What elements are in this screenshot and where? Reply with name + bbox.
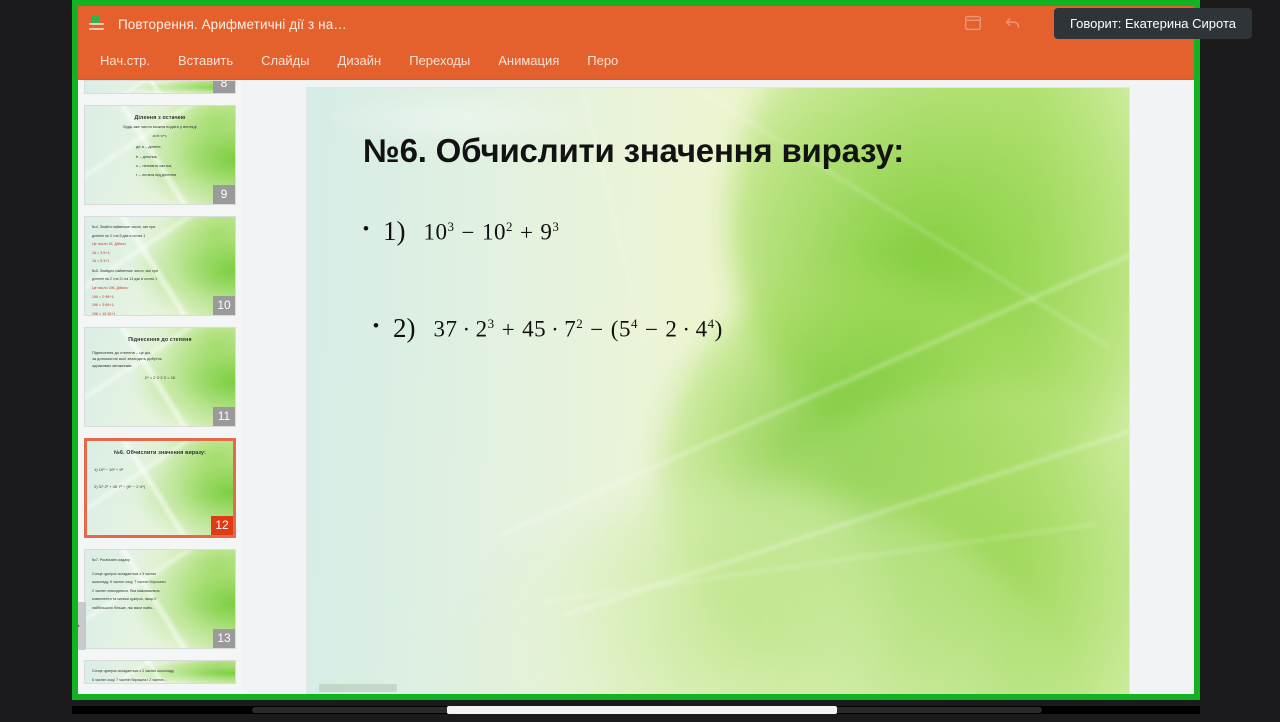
- current-slide[interactable]: №6. Обчислити значення виразу: • 1) 103−…: [306, 87, 1130, 700]
- thumb-line: Це число 196. Дійсно:: [92, 286, 228, 292]
- thumb-line: №4. Знайти найменше число, яке при: [92, 225, 228, 231]
- slide-number-badge: 13: [213, 629, 235, 648]
- thumb-content: Сонце цукерок складається з 3 частин шок…: [85, 661, 235, 683]
- menu-item-animation[interactable]: Анимация: [484, 49, 573, 72]
- thumb-line: Сонце цукерок складається з 3 частин: [92, 572, 228, 578]
- menu-bar: Нач.стр. Вставить Слайды Дизайн Переходы…: [78, 42, 1194, 80]
- list-menu-icon[interactable]: [86, 13, 108, 35]
- thumb-line: c – неповна частка,: [136, 163, 228, 169]
- slide-number-badge: 10: [213, 296, 235, 315]
- menu-item-transitions[interactable]: Переходы: [395, 49, 484, 72]
- thumb-line: найбільшого більше, ніж маси найм...: [92, 606, 228, 612]
- slide-watermark: [319, 684, 397, 692]
- slide-thumbnail[interactable]: Ділення з остачею Будь-яке число можна п…: [84, 105, 236, 205]
- menu-item-design[interactable]: Дизайн: [324, 49, 396, 72]
- undo-icon[interactable]: [1002, 12, 1024, 34]
- slide-number-badge: 9: [213, 185, 235, 204]
- thumb-line: 2) 37·2³ + 45·7² − (5⁴ − 2·4⁴): [94, 484, 226, 490]
- chevron-right-icon: ›: [78, 620, 80, 632]
- screen-root: Повторення. Арифметичні дії з на…: [0, 0, 1280, 722]
- thumb-title: Піднесення до степеня: [92, 337, 228, 343]
- thumb-line: 2 частин знаходяться. Яка максимальна: [92, 589, 228, 595]
- screen-share-frame: Повторення. Арифметичні дії з на…: [72, 0, 1200, 700]
- present-icon[interactable]: [962, 12, 984, 34]
- thumb-title: №6. Обчислити значення виразу:: [94, 450, 226, 456]
- slide-text-body: №6. Обчислити значення виразу: • 1) 103−…: [307, 88, 1129, 700]
- thumb-line: Це число 16. Дійсно:: [92, 242, 228, 248]
- slide-number-badge: 12: [211, 516, 233, 535]
- slide-thumbnail[interactable]: 8: [84, 80, 236, 94]
- thumb-line: однакових множників.: [92, 363, 228, 369]
- menu-item-pen[interactable]: Перо: [573, 49, 632, 72]
- thumbnail-panel-collapse-handle[interactable]: ›: [78, 602, 86, 650]
- thumb-line: №5. Знайдіть найменше число, яке при: [92, 269, 228, 275]
- title-bar: Повторення. Арифметичні дії з на…: [78, 6, 1194, 42]
- slide-thumbnail[interactable]: №4. Знайти найменше число, яке при ділен…: [84, 216, 236, 316]
- item-number: 2): [393, 313, 416, 344]
- thumb-line: 6 частин соку, 7 частин борошна і 2 част…: [92, 678, 228, 684]
- item-number: 1): [383, 216, 406, 247]
- thumb-line: компонента та скільки цукерок, якщо її: [92, 597, 228, 603]
- formula-expression: 103−102+93: [423, 219, 559, 246]
- thumb-line: діленні на 2 і на 3 і на 13 дає в остачі…: [92, 277, 228, 283]
- thumb-line: 2⁴ = 2·2·2·2 = 16: [92, 375, 228, 381]
- menu-item-home[interactable]: Нач.стр.: [86, 49, 164, 72]
- thumb-line: 16 = 5·3+1: [92, 259, 228, 265]
- slide-bullet-item: • 2) 37·23+45·72−(54−2·44): [363, 313, 1089, 344]
- slide-bullet-item: • 1) 103−102+93: [363, 216, 1089, 247]
- formula-expression: 37·23+45·72−(54−2·44): [433, 316, 722, 343]
- thumb-line: a=b·c+r,: [92, 133, 228, 139]
- thumb-line: де a – ділене,: [136, 144, 228, 150]
- slide-number-badge: 11: [213, 407, 235, 426]
- thumb-line: r – остача від ділення: [136, 172, 228, 178]
- scrollbar-thumb[interactable]: [447, 706, 837, 714]
- slide-thumbnail[interactable]: Піднесення до степеня Піднесення до степ…: [84, 327, 236, 427]
- thumb-line: Сонце цукерок складається з 3 частин шок…: [92, 669, 228, 675]
- work-area: 8 Ділення з остачею Будь-яке число можна…: [78, 80, 1194, 694]
- active-speaker-label: Говорит: Екатерина Сирота: [1054, 8, 1252, 39]
- thumb-line: b – дільник,: [136, 154, 228, 160]
- menu-item-slides[interactable]: Слайды: [247, 49, 323, 72]
- thumb-line: 1) 10³ − 10² + 9³: [94, 467, 226, 473]
- thumb-title: №7. Розв'язати задачу: [92, 558, 228, 564]
- slide-thumbnail-selected[interactable]: №6. Обчислити значення виразу: 1) 10³ − …: [84, 438, 236, 538]
- thumb-line: 196 = 2·98+1;: [92, 295, 228, 301]
- bullet-icon: •: [363, 219, 369, 239]
- thumb-line: шоколаду, 6 частин соку, 7 частин борошн…: [92, 580, 228, 586]
- slide-number-badge: 8: [213, 80, 235, 93]
- slide-thumbnail-panel[interactable]: 8 Ділення з остачею Будь-яке число можна…: [78, 80, 242, 694]
- thumb-line: діленні на 3 і на 5 дає в остачі 1: [92, 234, 228, 240]
- thumb-line: 196 = 3·65+1;: [92, 303, 228, 309]
- menu-item-insert[interactable]: Вставить: [164, 49, 247, 72]
- bullet-icon: •: [373, 316, 379, 336]
- horizontal-scrollbar[interactable]: [72, 706, 1200, 714]
- thumb-line: 196 = 13·15+1: [92, 312, 228, 316]
- slide-thumbnail[interactable]: Сонце цукерок складається з 3 частин шок…: [84, 660, 236, 684]
- slide-stage: №6. Обчислити значення виразу: • 1) 103−…: [242, 80, 1194, 694]
- thumb-line: Будь-яке число можна подати у вигляді: [92, 124, 228, 130]
- slide-title: №6. Обчислити значення виразу:: [363, 132, 1089, 170]
- thumb-title: Ділення з остачею: [92, 115, 228, 121]
- presentation-app-window: Повторення. Арифметичні дії з на…: [78, 6, 1194, 694]
- document-title: Повторення. Арифметичні дії з на…: [118, 17, 347, 32]
- thumb-line: 16 = 3·5+1;: [92, 251, 228, 257]
- title-bar-actions: [962, 12, 1024, 34]
- slide-thumbnail[interactable]: №7. Розв'язати задачу Сонце цукерок скла…: [84, 549, 236, 649]
